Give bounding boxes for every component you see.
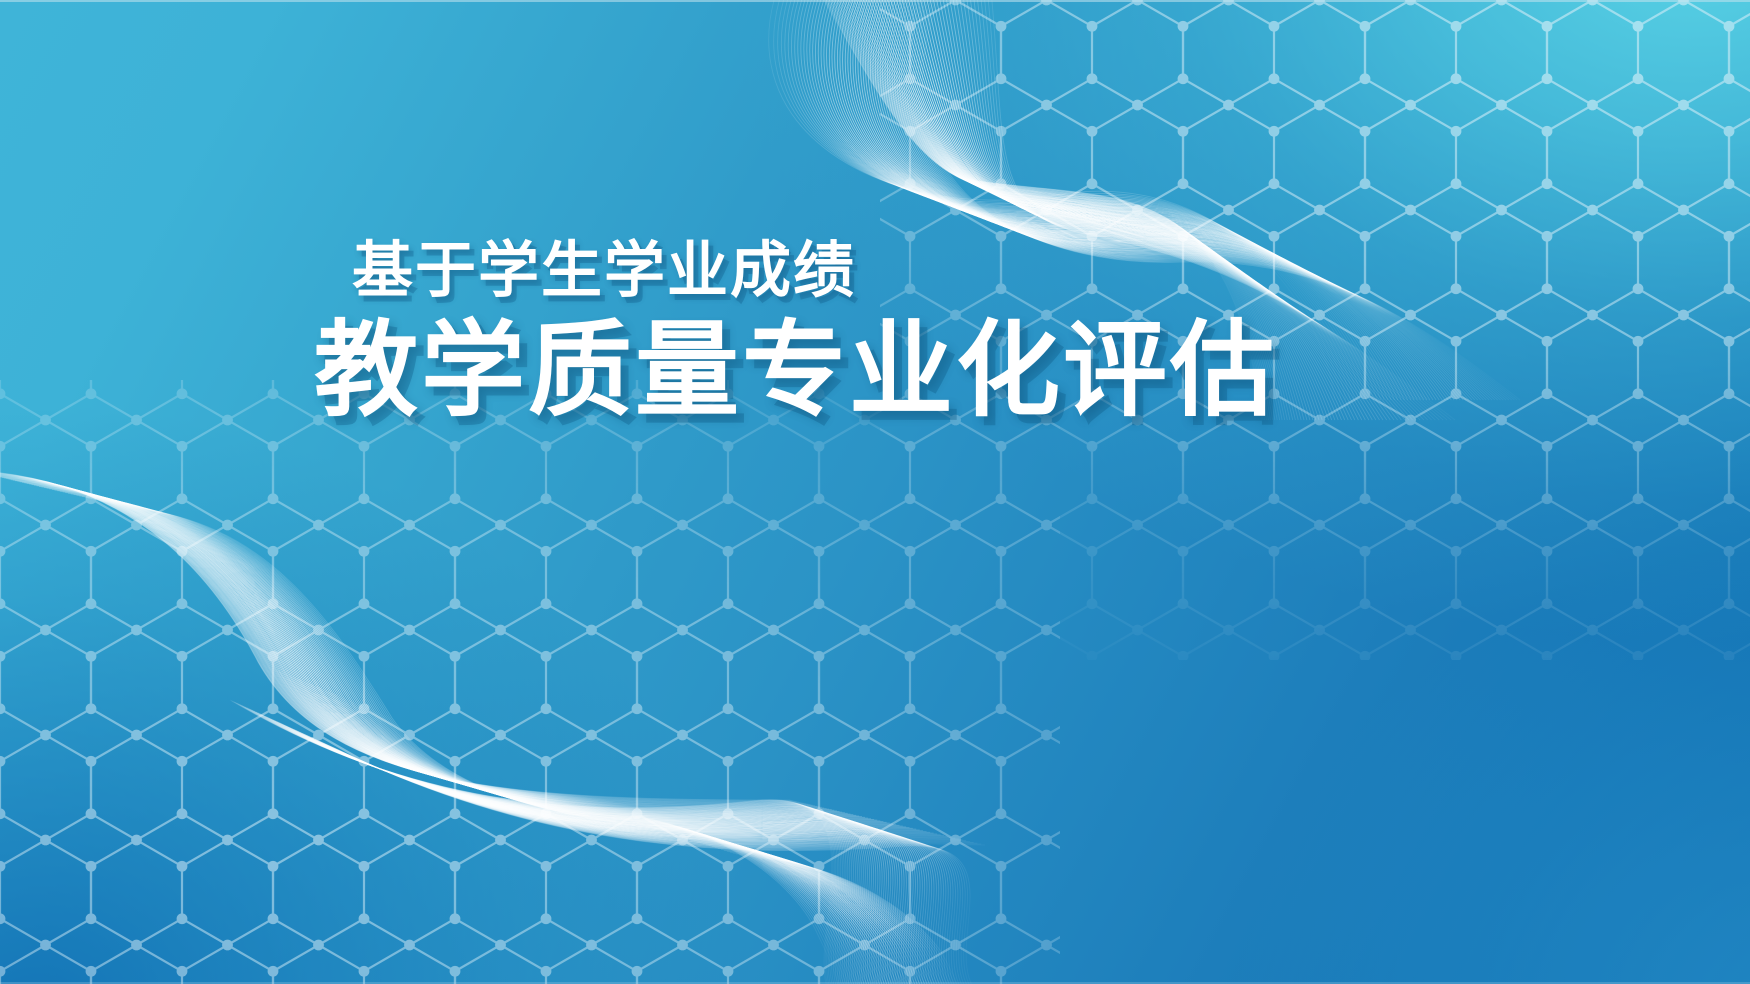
slide-subtitle: 基于学生学业成绩 [352, 238, 1277, 303]
background-tint-bottom-right [0, 0, 1750, 984]
presentation-title-slide: 基于学生学业成绩 教学质量专业化评估 [0, 0, 1750, 984]
slide-title: 教学质量专业化评估 [314, 317, 1277, 426]
top-edge-line [0, 0, 1750, 2]
title-text-block: 基于学生学业成绩 教学质量专业化评估 [352, 238, 1277, 426]
